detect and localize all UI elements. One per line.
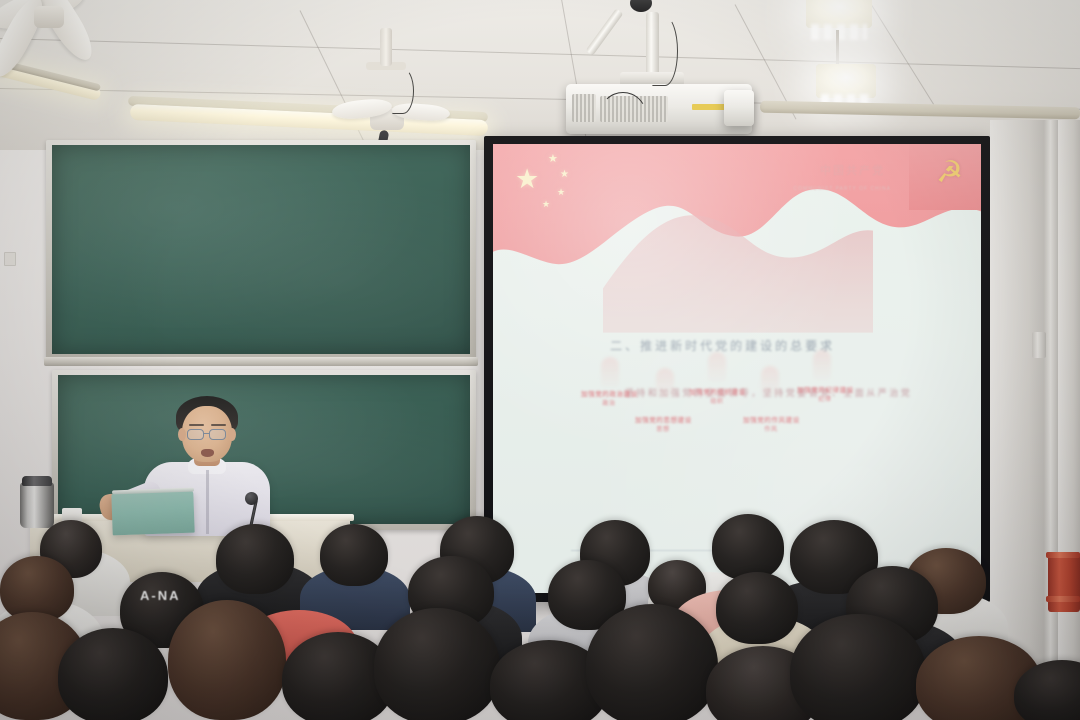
audience-head [716,572,798,644]
pendant-light-upper-right [806,0,872,28]
lecturer-ear-left [178,428,186,441]
wall-switch-plate[interactable] [4,252,16,266]
classroom-scene: ★ ★ ★ ★ ★ ☭ 中国共产党 COMMUNIST PARTY OF CHI… [0,0,1080,720]
lecturer-ear-right [228,428,236,441]
slide-heading-primary: 二、推进新时代党的建设的总要求 [610,337,835,354]
slide-item-3-sub: 组织 [689,398,745,407]
laptop[interactable] [111,491,194,536]
lecturer-glasses-right-lens [209,429,226,440]
pipe-bracket [1032,332,1046,358]
thermos-flask-cap [22,476,52,486]
slide-item-1-sub: 政治 [581,400,637,409]
slide-icon-ghost-5 [813,350,831,380]
audience-head [168,600,286,720]
flag-star-large: ★ [515,166,539,193]
projector-vent-side [572,94,596,122]
slide-item-2-sub: 思想 [635,426,691,435]
lecturer-brow-left [189,424,204,426]
hammer-and-sickle-icon: ☭ [936,158,963,188]
fire-hose-valve-rim-top [1046,552,1080,558]
slide-item-4-sub: 作风 [743,426,799,435]
lecturer-glasses-bridge [204,433,210,434]
lecturer-brow-right [211,424,226,426]
flag-star-small-1: ★ [548,154,558,165]
blackboard-upper [46,140,476,360]
slide-item-5: 加强党的纪律建设 纪律 [797,386,853,405]
slide-icon-ghost-1 [601,357,619,387]
slide-item-4: 加强党的作风建设 作风 [743,416,799,435]
slide-item-2-label: 加强党的思想建设 [635,417,692,424]
audience-head [790,614,926,720]
slide-item-1-label: 加强党的政治建设 [581,391,638,398]
slide-item-1: 加强党的政治建设 政治 [581,390,637,409]
audience-head [712,514,784,580]
flag-star-small-4: ★ [542,200,550,209]
slide-item-2: 加强党的思想建设 思想 [635,416,691,435]
audience-head [320,524,388,586]
lecturer-shirt-placket [206,470,209,534]
fan-cable [392,68,414,114]
pendant-light-lower-right-rod [836,30,839,68]
slide-icon-ghost-3 [708,352,726,382]
audience-head [58,628,168,720]
projector-lens-housing [724,90,754,126]
ceiling-fan-motor [34,6,64,28]
pendant-light-lower-right [816,64,876,98]
lecturer-glasses-left-lens [187,429,204,440]
blackboard-upper-tray [44,357,478,366]
desk-microphone-head[interactable] [245,492,258,505]
blackboard-upper-surface [52,145,470,354]
audience-head [216,524,294,594]
slide-icon-ghost-2 [656,368,674,398]
thermos-flask[interactable] [20,482,54,528]
right-wall-edge [1058,120,1080,720]
audience-head [374,608,500,720]
flag-star-small-3: ★ [557,188,565,197]
shirt-print: A-NA [140,588,181,603]
fire-hose-valve[interactable] [1048,552,1080,612]
audience-head [586,604,718,720]
party-logo-subtitle: COMMUNIST PARTY OF CHINA [793,186,891,192]
ceiling [0,0,1080,150]
flag-star-small-2: ★ [560,170,569,180]
slide-item-5-sub: 纪律 [797,396,853,405]
slide-icon-ghost-4 [761,366,779,396]
party-logo-title: 中国共产党 [820,162,885,178]
slide-item-5-label: 加强党的纪律建设 [797,387,854,394]
slide-item-3: 加强党的组织建设 组织 [689,388,745,407]
ceiling-fan-2-rod [380,28,392,66]
fire-hose-valve-rim-bottom [1046,596,1080,602]
projector-cable-2 [652,16,678,86]
projector-label [692,104,728,110]
slide-item-4-label: 加强党的作风建设 [743,417,800,424]
slide-item-3-label: 加强党的组织建设 [689,389,746,396]
lecturer-mouth [201,449,214,457]
